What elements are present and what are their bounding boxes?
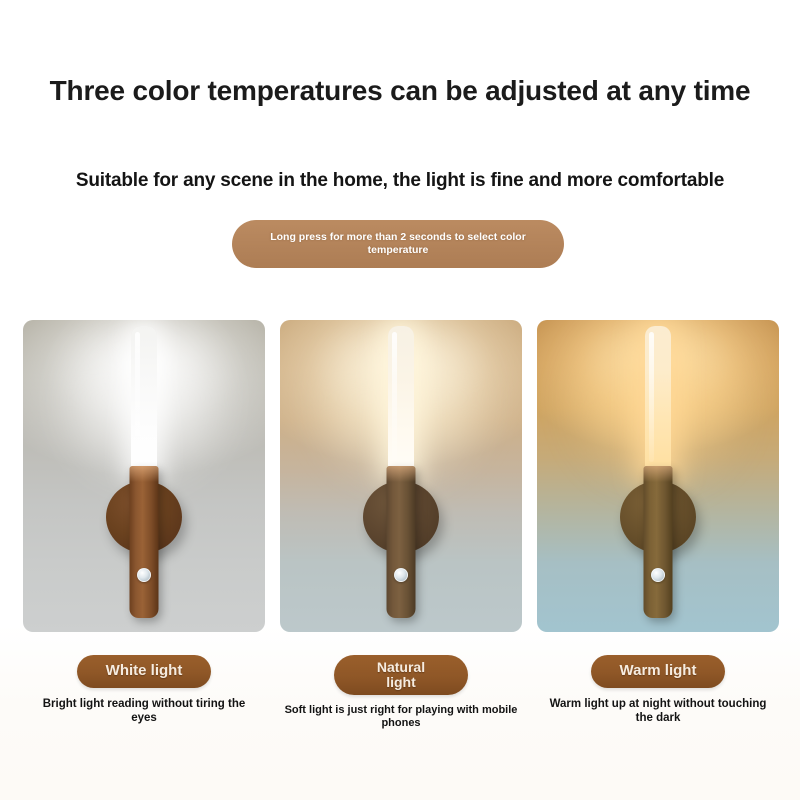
instruction-pill-label: Long press for more than 2 seconds to se… bbox=[254, 231, 542, 257]
page-subtitle: Suitable for any scene in the home, the … bbox=[25, 170, 775, 192]
tube-sheen bbox=[649, 332, 654, 462]
caption-natural-light: Soft light is just right for playing wit… bbox=[276, 704, 526, 731]
sensor-button-icon bbox=[137, 568, 151, 582]
light-tube bbox=[645, 326, 671, 474]
bar-top-glow bbox=[130, 466, 159, 482]
sensor-button-icon bbox=[394, 568, 408, 582]
caption-col-white: White light Bright light reading without… bbox=[23, 655, 265, 765]
instruction-pill: Long press for more than 2 seconds to se… bbox=[232, 220, 564, 268]
bar-top-glow bbox=[644, 466, 673, 482]
wooden-bar bbox=[644, 466, 673, 618]
wooden-bar bbox=[130, 466, 159, 618]
caption-white-light: Bright light reading without tiring the … bbox=[29, 697, 259, 725]
tube-sheen bbox=[135, 332, 140, 462]
caption-warm-light: Warm light up at night without touching … bbox=[543, 697, 773, 725]
light-tube bbox=[131, 326, 157, 474]
badge-natural-light: Natural light bbox=[334, 655, 468, 695]
badge-white-light: White light bbox=[77, 655, 211, 688]
bar-top-glow bbox=[387, 466, 416, 482]
photo-natural-light bbox=[280, 320, 522, 632]
tube-sheen bbox=[392, 332, 397, 462]
photo-row bbox=[23, 320, 780, 632]
photo-warm-light bbox=[537, 320, 779, 632]
wooden-bar bbox=[387, 466, 416, 618]
photo-white-light bbox=[23, 320, 265, 632]
caption-col-warm: Warm light Warm light up at night withou… bbox=[537, 655, 779, 765]
sensor-button-icon bbox=[651, 568, 665, 582]
badge-warm-light: Warm light bbox=[591, 655, 725, 688]
product-feature-page: Three color temperatures can be adjusted… bbox=[0, 0, 800, 800]
light-tube bbox=[388, 326, 414, 474]
caption-col-natural: Natural light Soft light is just right f… bbox=[280, 655, 522, 765]
caption-row: White light Bright light reading without… bbox=[23, 655, 780, 765]
page-title: Three color temperatures can be adjusted… bbox=[40, 74, 760, 107]
